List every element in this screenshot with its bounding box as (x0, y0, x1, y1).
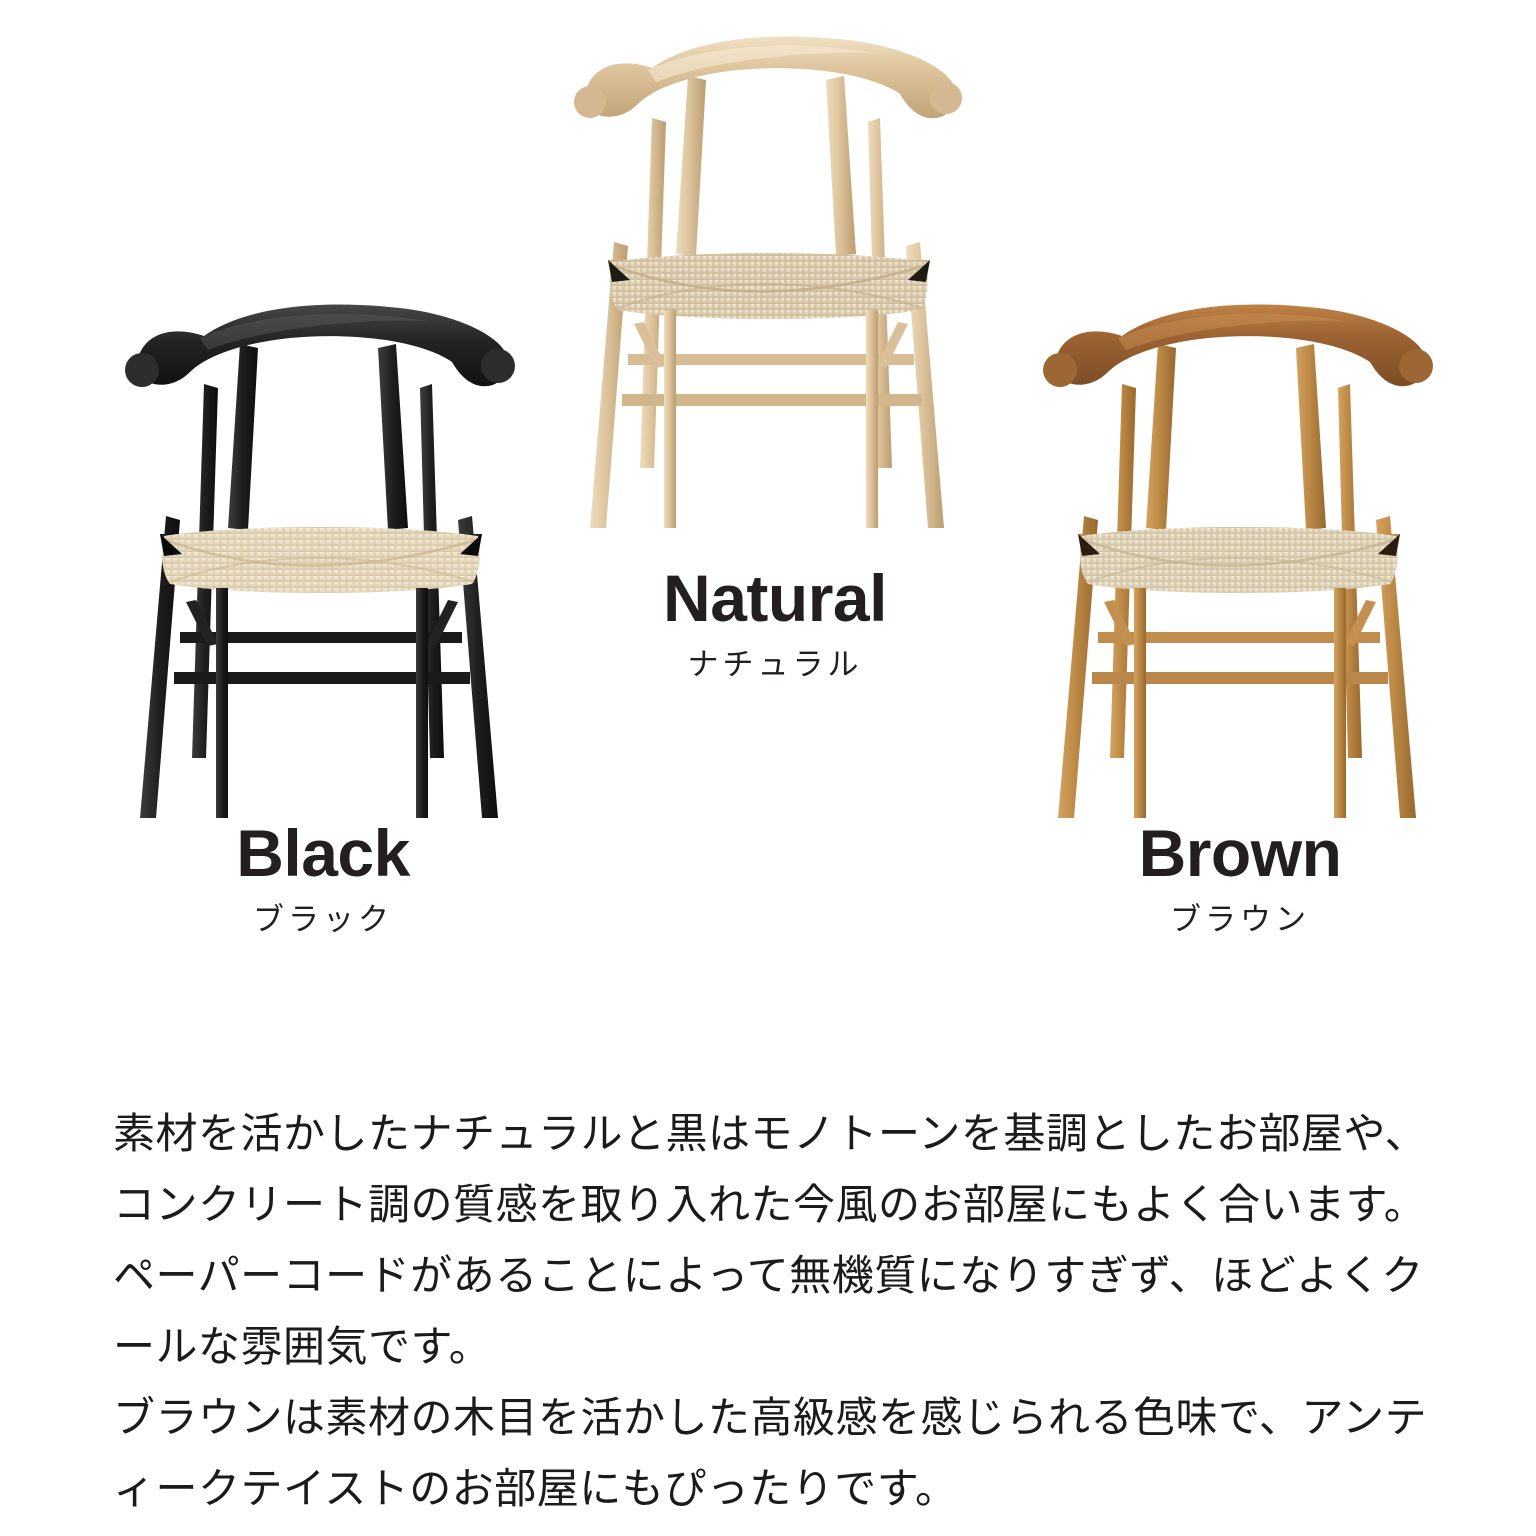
chair-label-natural-jp: ナチュラル (575, 650, 975, 681)
description-line: ペーパーコードがあることによって無機質になりすぎず、ほどよくク (113, 1240, 1433, 1311)
dining-chair-icon (1018, 288, 1458, 828)
chair-label-natural-en: Natural (575, 565, 975, 631)
chair-image-natural[interactable] (556, 22, 986, 542)
chair-label-brown-en: Brown (1040, 820, 1440, 886)
description-line: コンクリート調の質感を取り入れた今風のお部屋にもよく合います。 (113, 1169, 1433, 1240)
description-line: ィークテイストのお部屋にもぴったりです。 (113, 1453, 1433, 1524)
chair-gallery: Natural ナチュラル Black ブラック Brown ブラウン (0, 0, 1536, 1000)
chair-image-brown[interactable] (1018, 288, 1458, 828)
dining-chair-icon (100, 288, 540, 828)
description-line: 素材を活かしたナチュラルと黒はモノトーンを基調としたお部屋や、 (113, 1098, 1433, 1169)
dining-chair-icon (556, 22, 986, 542)
product-description: 素材を活かしたナチュラルと黒はモノトーンを基調としたお部屋や、 コンクリート調の… (113, 1098, 1433, 1524)
chair-image-black[interactable] (100, 288, 540, 828)
chair-label-black-jp: ブラック (128, 905, 518, 936)
chair-label-black-en: Black (128, 820, 518, 886)
chair-label-natural: Natural ナチュラル (575, 565, 975, 681)
product-color-variation-page: Natural ナチュラル Black ブラック Brown ブラウン 素材を活… (0, 0, 1536, 1536)
description-line: ールな雰囲気です。 (113, 1311, 1433, 1382)
chair-label-brown: Brown ブラウン (1040, 820, 1440, 936)
chair-label-black: Black ブラック (128, 820, 518, 936)
chair-label-brown-jp: ブラウン (1040, 905, 1440, 936)
description-line: ブラウンは素材の木目を活かした高級感を感じられる色味で、アンテ (113, 1382, 1433, 1453)
